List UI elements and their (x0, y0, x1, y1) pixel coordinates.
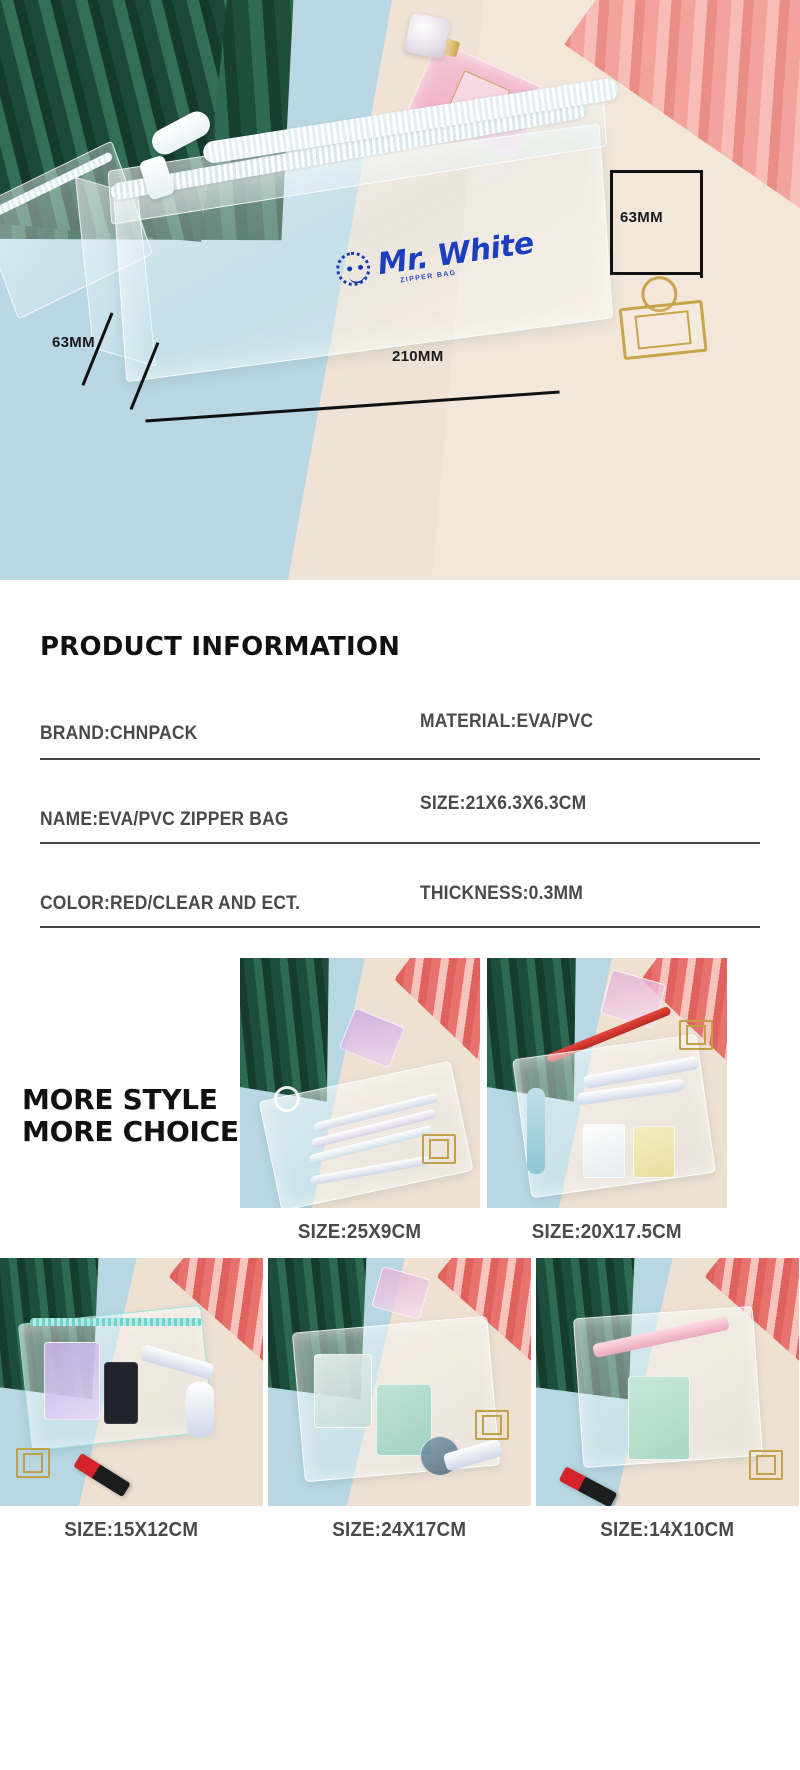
hero-product-photo: Mr. White ZIPPER BAG 63MM 63MM 210MM (0, 0, 800, 580)
scene-binder-clip-icon (679, 1020, 713, 1050)
gallery-caption: SIZE:25X9CM (298, 1221, 421, 1244)
dimension-line-right-2 (700, 170, 703, 278)
product-information-section: PRODUCT INFORMATION BRAND:CHNPACK MATERI… (0, 580, 800, 928)
scene-binder-clip-icon (16, 1448, 50, 1478)
scene-dark-box (104, 1362, 138, 1424)
scene-small-bottle (583, 1124, 625, 1178)
spec-name: NAME:EVA/PVC ZIPPER BAG (40, 809, 390, 831)
spec-thickness: THICKNESS:0.3MM (420, 883, 733, 915)
gold-binder-clip (610, 273, 714, 365)
dimension-tick-top (610, 170, 702, 173)
spec-row: NAME:EVA/PVC ZIPPER BAG SIZE:21X6.3X6.3C… (40, 788, 760, 844)
scene-binder-clip-icon (422, 1134, 456, 1164)
gallery-caption: SIZE:15X12CM (65, 1519, 199, 1542)
dimension-label-bottom: 210MM (392, 348, 444, 365)
gallery-caption: SIZE:20X17.5CM (532, 1221, 682, 1244)
more-style-heading-line2: MORE CHOICE (22, 1116, 239, 1148)
spec-size: SIZE:21X6.3X6.3CM (420, 793, 733, 831)
dimension-label-left: 63MM (52, 334, 95, 351)
dimension-line-right (610, 170, 613, 275)
dimension-tick-bottom (610, 272, 702, 275)
gallery-bottom-row: SIZE:15X12CM SIZE:24X17CM (0, 1258, 800, 1542)
mr-white-face-icon (334, 249, 372, 287)
gallery-photo-cosmetic-bag[interactable] (487, 958, 727, 1208)
scene-binder-clip-icon (475, 1410, 509, 1440)
gallery-photo-perfume-set[interactable] (268, 1258, 531, 1506)
more-style-heading-cell: MORE STYLE MORE CHOICE (0, 958, 240, 1244)
gallery-photo-pen-pouch[interactable] (240, 958, 480, 1208)
gallery-top-images: SIZE:25X9CM (240, 958, 727, 1244)
scene-perfume-bottle (628, 1376, 690, 1460)
scene-perfume-bottle (44, 1342, 100, 1420)
pvc-zipper-bag: Mr. White ZIPPER BAG (82, 112, 628, 398)
gallery-item[interactable]: SIZE:20X17.5CM (487, 958, 727, 1244)
gallery-caption: SIZE:24X17CM (333, 1519, 467, 1542)
more-style-heading: MORE STYLE MORE CHOICE (22, 1084, 239, 1148)
spec-row: COLOR:RED/CLEAR AND ECT. THICKNESS:0.3MM (40, 872, 760, 928)
gallery-item[interactable]: SIZE:25X9CM (240, 958, 480, 1244)
scene-zipper-icon (30, 1318, 202, 1326)
scene-binder-clip-icon (749, 1450, 783, 1480)
spec-brand: BRAND:CHNPACK (40, 723, 390, 747)
gallery-item[interactable]: SIZE:14X10CM (536, 1258, 799, 1542)
gallery-item[interactable]: SIZE:15X12CM (0, 1258, 263, 1542)
gallery-photo-pen-and-perfume[interactable] (536, 1258, 799, 1506)
dimension-label-right: 63MM (620, 209, 663, 226)
more-style-section: MORE STYLE MORE CHOICE (0, 958, 800, 1542)
scene-perfume-bottle (314, 1354, 372, 1428)
gallery-caption: SIZE:14X10CM (601, 1519, 735, 1542)
scene-keyring-icon (274, 1086, 300, 1112)
scene-blue-stick (527, 1088, 545, 1174)
gallery-item[interactable]: SIZE:24X17CM (268, 1258, 531, 1542)
more-style-heading-line1: MORE STYLE (22, 1084, 239, 1116)
page-title: PRODUCT INFORMATION (40, 632, 760, 662)
gallery-photo-makeup-pouch[interactable] (0, 1258, 263, 1506)
perfume-cap (404, 12, 451, 59)
spec-color: COLOR:RED/CLEAR AND ECT. (40, 893, 390, 915)
spec-row: BRAND:CHNPACK MATERIAL:EVA/PVC (40, 704, 760, 760)
gallery-top-row: MORE STYLE MORE CHOICE (0, 958, 800, 1244)
scene-white-tube (186, 1382, 214, 1438)
binder-clip-body-icon (619, 300, 708, 360)
scene-small-bottle (633, 1126, 675, 1178)
spec-material: MATERIAL:EVA/PVC (420, 711, 733, 747)
